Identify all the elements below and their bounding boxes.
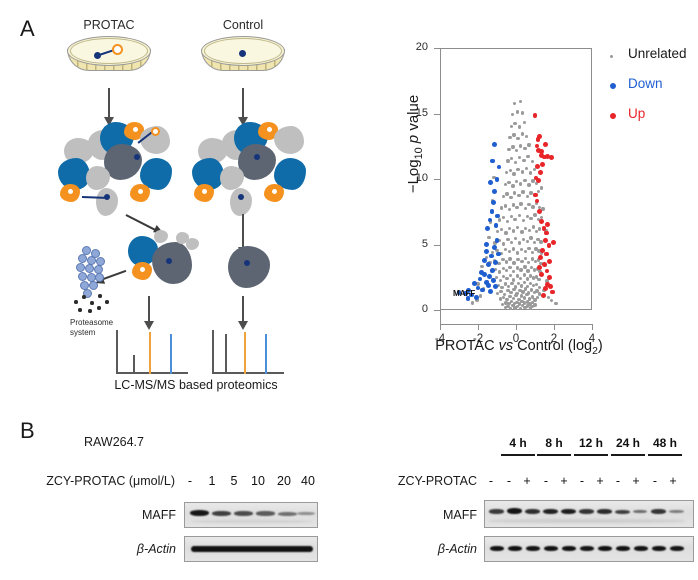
volcano-point [523,265,526,268]
volcano-point [484,242,489,247]
volcano-point [509,274,512,277]
volcano-point [539,272,544,277]
volcano-point [536,137,541,142]
x-axis-spine [440,324,592,325]
volcano-point [521,290,524,293]
volcano-point [500,286,503,289]
blot-left-lane-label: 40 [298,474,318,488]
blot-right-timepoint-label: 24 h [608,436,648,450]
volcano-point [525,135,528,138]
arrow-control-to-complex [242,88,244,118]
volcano-point [526,155,529,158]
volcano-point [524,250,527,253]
volcano-point [498,270,501,273]
volcano-point [549,155,554,160]
volcano-point [513,122,516,125]
volcano-point [513,191,516,194]
volcano-point [515,206,518,209]
volcano-point [497,165,502,170]
volcano-point [527,183,530,186]
blot-right-row-label-actin: β-Actin [370,542,477,556]
volcano-point [524,257,527,260]
volcano-point [529,171,532,174]
ubiquitin-chain-icon [70,246,108,300]
blot-left-gel-maff [184,502,318,528]
blot-right-lane-label: + [627,474,645,488]
protac-workflow-schematic: PROTAC Control [48,18,340,390]
volcano-point [539,219,544,224]
y-tick-label: 20 [402,41,428,53]
y-tick [434,114,440,115]
volcano-point [510,241,513,244]
volcano-point [509,196,512,199]
volcano-point [491,278,496,283]
blot-left-lane-label: 10 [248,474,268,488]
volcano-point [517,298,520,301]
blot-right-lane-label: - [573,474,591,488]
dish-label-control: Control [198,18,288,32]
volcano-point [532,225,535,228]
volcano-point [545,269,550,274]
volcano-point [535,199,540,204]
volcano-point [527,247,530,250]
volcano-point [543,238,548,243]
volcano-point [519,277,522,280]
volcano-point [536,296,539,299]
arrow-control-to-spectrum [242,296,244,322]
y-tick [434,48,440,49]
volcano-point [496,230,499,233]
volcano-point [520,230,523,233]
volcano-point [514,285,517,288]
volcano-annotation: MAFF [453,289,475,298]
blot-left-gel-actin [184,536,318,562]
volcano-point [525,167,528,170]
volcano-point [492,142,497,147]
blot-right-lane-label: - [646,474,664,488]
volcano-point [529,217,532,220]
volcano-point [542,262,547,267]
volcano-point [500,206,503,209]
volcano-point [511,145,514,148]
volcano-point [523,296,526,299]
volcano-point [520,248,523,251]
volcano-point [517,194,520,197]
volcano-point [498,218,501,221]
blot-right-gel-maff [484,500,694,528]
volcano-point [510,157,513,160]
volcano-point [480,288,485,293]
volcano-point [526,277,529,280]
blot-right-lane-label: - [537,474,555,488]
volcano-point [521,190,524,193]
proteasome-system-label: Proteasome system [70,318,113,337]
y-tick [434,245,440,246]
volcano-point [489,254,494,259]
western-blot-dose-response: RAW264.7 ZCY-PROTAC (μmol/L) -15102040 M… [0,430,348,580]
volcano-point [538,255,543,260]
legend-label: Unrelated [628,46,687,61]
volcano-point [520,284,523,287]
volcano-point [516,251,519,254]
blot-right-timepoint-bar [611,454,645,456]
y-tick-label: 5 [402,238,428,250]
volcano-point [514,237,517,240]
volcano-point [526,285,529,288]
arrow-control-to-target [242,214,244,248]
volcano-point [543,142,548,147]
volcano-point [516,226,519,229]
volcano-point [519,268,522,271]
blot-right-timepoint-bar [537,454,571,456]
culture-dish-control-icon [201,36,285,82]
volcano-point [505,171,508,174]
volcano-point [512,133,515,136]
volcano-point [531,251,534,254]
volcano-point [528,229,531,232]
volcano-point [512,270,515,273]
volcano-point [502,216,505,219]
volcano-point [523,179,526,182]
volcano-point [516,137,519,140]
volcano-point [518,214,521,217]
schematic-footer-label: LC-MS/MS based proteomics [78,378,314,392]
volcano-point [490,159,495,164]
volcano-point [496,252,501,257]
volcano-point [521,111,524,114]
volcano-point [509,291,512,294]
volcano-point [507,285,510,288]
volcano-point [526,195,529,198]
volcano-point [537,278,540,281]
volcano-point [515,292,518,295]
volcano-point [478,277,483,282]
volcano-point [518,125,521,128]
volcano-point [512,261,515,264]
volcano-point [508,208,511,211]
volcano-point [537,209,542,214]
volcano-point [519,307,522,310]
volcano-point [510,125,513,128]
legend-label: Down [628,76,663,91]
volcano-point [554,302,557,305]
volcano-point [523,121,526,124]
volcano-point [495,177,500,182]
volcano-point [535,164,540,169]
volcano-point [488,180,493,185]
volcano-point [518,241,521,244]
blot-left-lane-label: 1 [202,474,222,488]
volcano-point [551,240,556,245]
volcano-point [516,110,519,113]
volcano-plot: −Log10 p value MAFF 05101520 -4-2024 PRO… [374,22,694,378]
legend-marker-icon [610,55,613,58]
blot-left-lane-label: 5 [224,474,244,488]
volcano-point [506,238,509,241]
volcano-point [511,113,514,116]
volcano-point [522,159,525,162]
volcano-point [491,200,496,205]
volcano-plot-area: MAFF [440,48,592,310]
volcano-point [533,241,536,244]
volcano-point [493,260,498,265]
volcano-point [533,213,536,216]
volcano-point [492,245,497,250]
volcano-point [512,278,515,281]
volcano-point [526,269,529,272]
volcano-point [527,143,530,146]
blot-right-timepoint-label: 4 h [498,436,538,450]
volcano-point [548,284,553,289]
volcano-point [527,291,530,294]
volcano-point [531,160,534,163]
volcano-point [527,261,530,264]
volcano-point [524,227,527,230]
volcano-point [509,307,512,310]
volcano-point [519,100,522,103]
volcano-point [518,302,521,305]
volcano-point [523,281,526,284]
volcano-point [479,270,484,275]
volcano-point [540,162,545,167]
volcano-point [522,238,525,241]
legend-label: Up [628,106,645,121]
volcano-point [511,184,514,187]
volcano-point [508,250,511,253]
blot-left-lane-label: - [180,474,200,488]
volcano-point [503,293,506,296]
blot-right-lane-label: + [518,474,536,488]
volcano-point [522,219,525,222]
volcano-point [531,205,534,208]
volcano-point [506,220,509,223]
volcano-point [533,113,538,118]
volcano-point [523,273,526,276]
volcano-point [538,227,541,230]
y-tick-label: 15 [402,107,428,119]
x-tick [592,324,593,330]
y-tick [434,179,440,180]
volcano-point [518,156,521,159]
volcano-point [512,229,515,232]
volcano-point [508,257,511,260]
volcano-point [507,181,510,184]
blot-right-timepoint-label: 12 h [571,436,611,450]
volcano-point [504,248,507,251]
volcano-point [533,193,538,198]
volcano-point [519,202,522,205]
volcano-point [504,231,507,234]
blot-left-row-label-maff: MAFF [60,508,176,522]
volcano-point [513,218,516,221]
y-tick-label: 10 [402,172,428,184]
panel-a-letter: A [20,16,35,42]
blot-right-lane-label: + [664,474,682,488]
volcano-point [520,260,523,263]
volcano-point [505,269,508,272]
blot-left-treatment-label: ZCY-PROTAC (μmol/L) [0,474,175,488]
volcano-point [484,249,489,254]
volcano-point [487,236,490,239]
volcano-point [526,240,529,243]
volcano-point [486,262,491,267]
volcano-point [514,161,517,164]
blot-right-timepoint-label: 8 h [534,436,574,450]
volcano-point [510,282,513,285]
dish-label-protac: PROTAC [64,18,154,32]
blot-right-timepoint-bar [574,454,608,456]
blot-right-lane-label: + [591,474,609,488]
blot-right-lane-label: - [609,474,627,488]
volcano-point [504,204,507,207]
volcano-point [485,226,490,231]
intact-target-protein [228,246,270,288]
volcano-point [495,238,500,243]
western-blot-time-course: 4 h8 h12 h24 h48 h ZCY-PROTAC --+-+-+-+-… [350,430,698,580]
blot-right-lane-label: - [482,474,500,488]
blot-right-row-label-maff: MAFF [370,508,477,522]
blot-right-lane-label: - [500,474,518,488]
arrow-protac-to-spectrum [148,296,150,322]
figure-root: A PROTAC Control [0,0,698,580]
volcano-point [505,277,508,280]
volcano-point [550,299,553,302]
volcano-point [544,231,549,236]
blot-right-lane-label: + [555,474,573,488]
blot-right-gel-actin [484,536,694,562]
volcano-point [547,259,552,264]
volcano-point [521,170,524,173]
blot-right-timepoint-bar [648,454,682,456]
arrow-protac-to-complex [108,88,110,118]
volcano-point [519,144,522,147]
volcano-point [508,266,511,269]
ms-spectrum-protac [116,330,188,374]
ms-spectrum-control [212,330,284,374]
volcano-point [493,284,498,289]
blot-right-treatment-label: ZCY-PROTAC [350,474,477,488]
volcano-point [494,223,499,228]
volcano-point [521,132,524,135]
volcano-point [550,290,555,295]
volcano-point [529,236,532,239]
culture-dish-protac-icon [67,36,151,82]
volcano-point [490,268,495,273]
volcano-point [515,180,518,183]
volcano-point [505,298,508,301]
volcano-point [490,209,495,214]
volcano-point [512,247,515,250]
volcano-point [512,172,515,175]
volcano-point [486,283,491,288]
volcano-point [499,279,502,282]
volcano-point [540,186,543,189]
arrow-to-ubiquitination [126,214,157,231]
volcano-point [538,170,543,175]
volcano-point [500,228,503,231]
volcano-point [492,189,497,194]
blot-left-row-label-actin: β-Actin [60,542,176,556]
volcano-point [533,303,536,306]
volcano-point [502,242,505,245]
volcano-point [544,252,549,257]
y-axis-spine [440,310,441,324]
blot-left-lane-label: 20 [274,474,294,488]
volcano-point [538,286,541,289]
blot-left-cell-line-label: RAW264.7 [84,435,144,449]
volcano-point [482,258,487,263]
volcano-point [480,265,483,268]
volcano-point [545,222,550,227]
volcano-point [516,168,519,171]
blot-right-timepoint-bar [501,454,535,456]
volcano-point [539,149,544,154]
volcano-point [479,294,482,297]
volcano-point [536,178,541,183]
volcano-point [508,227,511,230]
volcano-point [524,207,527,210]
volcano-point [488,289,493,294]
volcano-point [471,301,474,304]
volcano-point [515,149,518,152]
volcano-point [513,102,516,105]
y-tick-label: 0 [402,303,428,315]
volcano-x-axis-title: PROTAC vs Control (log2) [404,338,634,357]
volcano-point [512,297,515,300]
volcano-point [547,275,552,280]
legend-marker-icon [610,83,616,89]
volcano-point [505,192,508,195]
volcano-point [523,147,526,150]
volcano-point [505,260,508,263]
volcano-point [506,159,509,162]
volcano-point [541,293,546,298]
volcano-point [519,182,522,185]
legend-marker-icon [610,113,616,119]
blot-right-timepoint-label: 48 h [645,436,685,450]
